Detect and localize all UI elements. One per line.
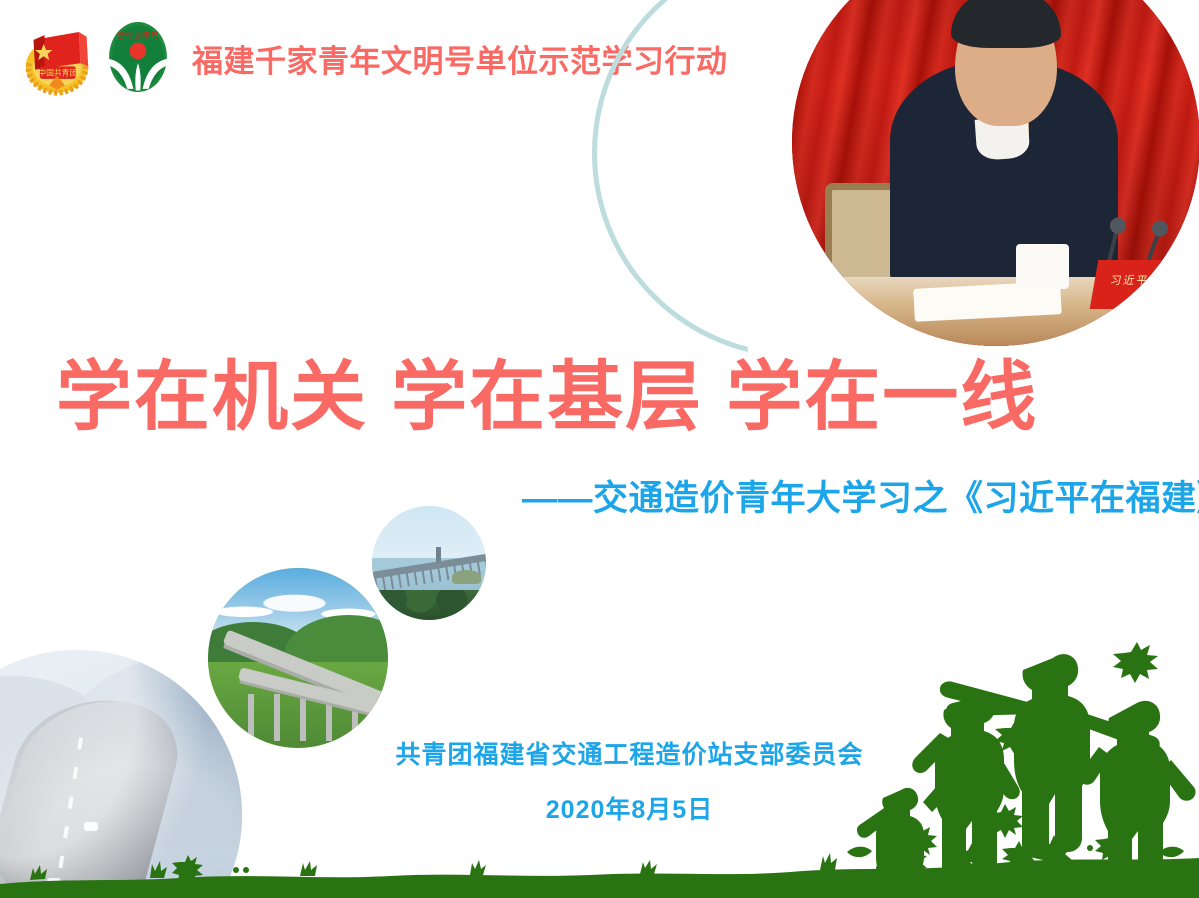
fog-overlay [0, 650, 242, 898]
svg-text:中国共青团: 中国共青团 [38, 68, 77, 78]
nameplate-text: 习近平 [1109, 272, 1151, 288]
presentation-title-slide: 中国共青团 青年文明号 福建千家青年文明号单位示范学习行动 习 [0, 0, 1199, 898]
tea-cup [1016, 244, 1069, 289]
leader-speech-photo: 习近平 [792, 0, 1199, 346]
date-text: 2020年8月5日 [546, 796, 713, 824]
organization-line: 共青团福建省交通工程造价站支部委员会 [0, 735, 1199, 771]
communist-youth-league-emblem-icon: 中国共青团 [18, 18, 96, 96]
organization-text: 共青团福建省交通工程造价站支部委员会 [395, 741, 863, 769]
youth-civilization-emblem-icon: 青年文明号 [100, 19, 176, 95]
svg-text:青年文明号: 青年文明号 [117, 31, 159, 41]
nameplate: 习近平 [1090, 260, 1197, 309]
figure-hair [951, 0, 1061, 48]
subtitle: ——交通造价青年大学习之《习近平在福建》 [522, 470, 1199, 521]
misty-highway-photo [0, 650, 242, 898]
sea-bridge-photo [372, 506, 486, 620]
date-line: 2020年8月5日 [0, 790, 1199, 826]
island-shape [452, 570, 482, 584]
main-title: 学在机关 学在基层 学在一线 [56, 358, 1038, 438]
sky-layer [372, 506, 486, 558]
foreground-trees [372, 590, 486, 620]
